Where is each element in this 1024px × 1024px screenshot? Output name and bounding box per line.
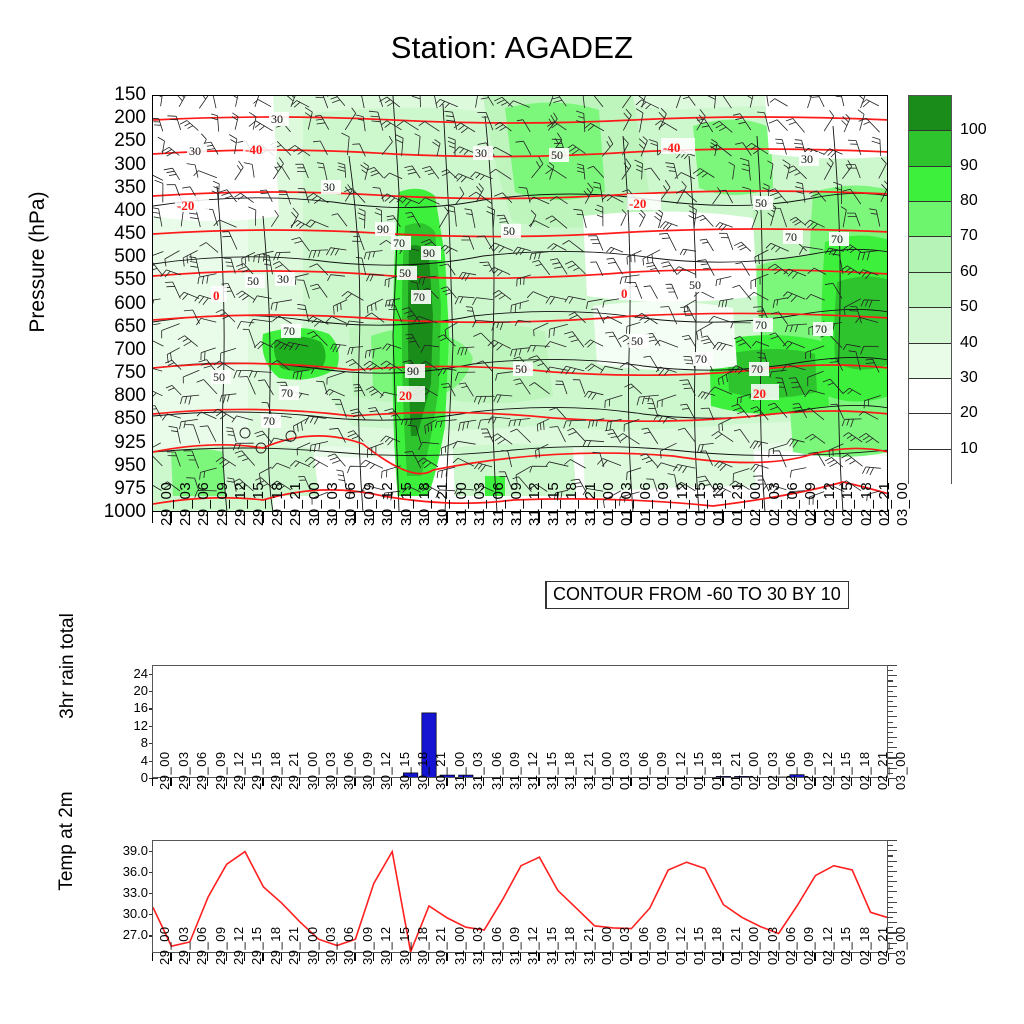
x-tick-label: 01_09	[654, 751, 669, 790]
svg-text:70: 70	[263, 414, 275, 428]
x-tick-label: 29_09	[213, 926, 228, 965]
x-tick-label: 31_15	[544, 926, 559, 965]
x-tick-label: 29_03	[176, 751, 191, 790]
x-tick-mark	[152, 953, 153, 961]
rain-axis-label: 3hr rain total	[57, 586, 79, 746]
x-tick-label: 02_03	[765, 926, 780, 965]
page-title: Station: AGADEZ	[0, 30, 1024, 66]
x-tick-label: 30_15	[398, 482, 415, 526]
x-tick-label: 29_03	[176, 926, 191, 965]
minor-tick	[888, 845, 893, 846]
minor-tick	[888, 732, 893, 733]
svg-text:50: 50	[631, 334, 643, 348]
minor-tick	[888, 696, 897, 697]
x-tick-label: 29_09	[213, 751, 228, 790]
svg-text:70: 70	[785, 230, 797, 244]
svg-text:50: 50	[551, 148, 563, 162]
svg-text:70: 70	[755, 318, 767, 332]
x-tick-label: 02_15	[838, 751, 853, 790]
x-tick-label: 30_06	[342, 482, 359, 526]
x-tick-label: 31_12	[526, 482, 543, 526]
x-tick-label: 30_09	[361, 482, 378, 526]
x-tick-label: 31_09	[507, 926, 522, 965]
x-tick-label: 01_21	[729, 482, 746, 526]
main-y-tick: 650	[100, 317, 146, 336]
svg-text:50: 50	[689, 278, 701, 292]
x-tick-label: 30_00	[305, 751, 320, 790]
minor-tick	[888, 727, 897, 728]
tempPanel-right-minor-ticks	[888, 840, 900, 953]
temp-y-tick: 27.0	[102, 928, 148, 941]
x-tick-label: 29_18	[269, 482, 286, 526]
svg-text:70: 70	[281, 386, 293, 400]
x-tick-label: 31_06	[489, 751, 504, 790]
minor-tick	[888, 778, 897, 779]
x-tick-label: 30_12	[379, 482, 396, 526]
x-tick-label: 30_03	[323, 926, 338, 965]
svg-text:-40: -40	[245, 142, 262, 157]
svg-text:70: 70	[751, 362, 763, 376]
minor-tick	[888, 850, 897, 851]
svg-text:70: 70	[283, 324, 295, 338]
minor-tick	[888, 855, 893, 856]
x-tick-label: 31_12	[525, 751, 540, 790]
x-tick-label: 29_09	[214, 482, 231, 526]
svg-text:90: 90	[407, 364, 419, 378]
minor-tick	[888, 948, 893, 949]
colorbar-tick-label: 10	[960, 440, 978, 458]
x-tick-label: 01_15	[691, 751, 706, 790]
x-tick-label: 29_12	[231, 751, 246, 790]
x-tick-label: 31_15	[545, 482, 562, 526]
x-tick-mark	[152, 778, 153, 786]
x-tick-label: 02_00	[746, 926, 761, 965]
x-tick-label: 29_00	[158, 482, 175, 526]
minor-tick	[888, 917, 893, 918]
x-tick-label: 31_21	[582, 482, 599, 526]
colorbar-tick-label: 40	[960, 334, 978, 352]
x-tick-label: 31_00	[452, 751, 467, 790]
minor-tick	[888, 897, 893, 898]
temp-y-tick: 30.0	[102, 907, 148, 920]
main-plot-svg: -40 -40 -20 -20 0 0 20 20 30 30 30 30 50…	[153, 96, 888, 512]
minor-tick	[888, 886, 893, 887]
main-y-tick: 750	[100, 363, 146, 382]
minor-tick	[888, 670, 893, 671]
svg-text:50: 50	[755, 196, 767, 210]
minor-tick	[888, 722, 893, 723]
svg-text:-20: -20	[629, 196, 646, 211]
x-tick-label: 01_15	[692, 482, 709, 526]
main-y-axis-label: Pressure (hPa)	[26, 132, 50, 392]
x-tick-label: 01_00	[599, 926, 614, 965]
x-tick-label: 02_09	[801, 926, 816, 965]
svg-text:0: 0	[213, 288, 220, 303]
x-tick-label: 31_06	[489, 926, 504, 965]
x-tick-label: 01_03	[617, 926, 632, 965]
x-tick-label: 30_00	[306, 482, 323, 526]
x-tick-label: 29_15	[249, 751, 264, 790]
svg-text:30: 30	[189, 144, 201, 158]
svg-text:70: 70	[393, 236, 405, 250]
main-y-tick: 200	[100, 108, 146, 127]
x-tick-label: 01_12	[673, 926, 688, 965]
x-tick-label: 01_06	[637, 482, 654, 526]
x-tick-label: 30_06	[341, 751, 356, 790]
contour-note: CONTOUR FROM -60 TO 30 BY 10	[545, 581, 849, 609]
minor-tick	[888, 861, 897, 862]
main-y-tick: 850	[100, 409, 146, 428]
x-tick-label: 02_15	[839, 482, 856, 526]
minor-tick	[888, 757, 897, 758]
rainPanel-right-minor-ticks	[888, 665, 900, 778]
x-tick-label: 30_21	[434, 482, 451, 526]
x-tick-label: 29_18	[268, 926, 283, 965]
colorbar-tick-label: 100	[960, 121, 987, 139]
x-tick-label: 30_21	[433, 926, 448, 965]
svg-text:50: 50	[247, 274, 259, 288]
x-tick-label: 02_18	[857, 926, 872, 965]
x-tick-label: 30_15	[397, 751, 412, 790]
x-tick-label: 30_18	[415, 926, 430, 965]
x-tick-label: 31_03	[470, 926, 485, 965]
main-y-tick: 800	[100, 386, 146, 405]
svg-text:90: 90	[423, 246, 435, 260]
rain-y-tick: 16	[108, 701, 148, 714]
svg-text:50: 50	[399, 266, 411, 280]
main-y-tick: 450	[100, 224, 146, 243]
colorbar-tick-label: 30	[960, 369, 978, 387]
x-tick-label: 31_09	[508, 482, 525, 526]
svg-text:70: 70	[413, 290, 425, 304]
x-tick-label: 29_15	[249, 926, 264, 965]
x-tick-label: 01_12	[674, 482, 691, 526]
x-tick-label: 01_03	[617, 751, 632, 790]
main-y-tick: 500	[100, 247, 146, 266]
temp-y-tick: 39.0	[102, 844, 148, 857]
x-tick-label: 30_03	[324, 482, 341, 526]
main-y-tick: 600	[100, 294, 146, 313]
x-tick-label: 01_21	[728, 751, 743, 790]
x-tick-label: 29_06	[194, 751, 209, 790]
svg-text:30: 30	[277, 272, 289, 286]
rain-y-tick: 20	[108, 684, 148, 697]
x-tick-label: 29_21	[286, 926, 301, 965]
minor-tick	[888, 716, 897, 717]
minor-tick	[888, 876, 893, 877]
minor-tick	[888, 922, 897, 923]
x-tick-label: 01_18	[710, 482, 727, 526]
x-tick-label: 31_18	[563, 482, 580, 526]
svg-text:70: 70	[831, 232, 843, 246]
main-x-axis-labels: 29_0029_0329_0629_0929_1229_1529_1829_21…	[152, 524, 888, 586]
minor-tick	[888, 881, 897, 882]
main-y-tick: 300	[100, 155, 146, 174]
temp-y-tick: 33.0	[102, 886, 148, 899]
main-y-tick: 1000	[100, 502, 146, 521]
minor-tick	[888, 675, 897, 676]
x-tick-label: 01_15	[691, 926, 706, 965]
colorbar-tick-label: 20	[960, 404, 978, 422]
x-tick-label: 29_21	[286, 751, 301, 790]
minor-tick	[888, 742, 893, 743]
x-tick-label: 29_21	[287, 482, 304, 526]
x-tick-label: 31_09	[507, 751, 522, 790]
x-tick-label: 31_03	[470, 751, 485, 790]
minor-tick	[888, 706, 897, 707]
minor-tick	[888, 912, 897, 913]
minor-tick	[888, 665, 897, 666]
x-tick-label: 01_00	[599, 751, 614, 790]
sounding-timeheight-plot: -40 -40 -20 -20 0 0 20 20 30 30 30 30 50…	[152, 95, 888, 512]
minor-tick	[888, 737, 897, 738]
x-tick-label: 29_03	[177, 482, 194, 526]
temp-y-tick: 36.0	[102, 865, 148, 878]
svg-text:-40: -40	[663, 140, 680, 155]
minor-tick	[888, 907, 893, 908]
main-y-tick: 250	[100, 131, 146, 150]
x-tick-label: 02_09	[801, 751, 816, 790]
rain-y-tick: 4	[108, 754, 148, 767]
x-tick-label: 31_12	[525, 926, 540, 965]
minor-tick	[888, 701, 893, 702]
x-tick-label: 31_21	[581, 751, 596, 790]
svg-text:30: 30	[323, 180, 335, 194]
minor-tick	[888, 752, 893, 753]
x-tick-label: 29_12	[231, 926, 246, 965]
svg-text:30: 30	[475, 146, 487, 160]
x-tick-label: 01_09	[654, 926, 669, 965]
svg-text:20: 20	[399, 388, 412, 403]
x-tick-label: 31_06	[490, 482, 507, 526]
minor-tick	[888, 943, 897, 944]
svg-text:70: 70	[695, 352, 707, 366]
rain-y-tick-labels: 24201612840	[96, 665, 148, 778]
main-y-tick: 350	[100, 178, 146, 197]
temp-x-axis-labels: 29_0029_0329_0629_0929_1229_1529_1829_21…	[152, 963, 888, 1019]
minor-tick	[888, 866, 893, 867]
main-y-tick: 150	[100, 85, 146, 104]
x-tick-label: 30_06	[341, 926, 356, 965]
temp-axis-label: Temp at 2m	[56, 756, 78, 926]
minor-tick	[888, 773, 893, 774]
x-tick-label: 02_21	[876, 482, 893, 526]
main-y-tick: 400	[100, 201, 146, 220]
x-tick-label: 02_09	[802, 482, 819, 526]
x-tick-label: 01_06	[636, 926, 651, 965]
colorbar-tick-label: 60	[960, 263, 978, 281]
temp-y-tick-labels: 39.036.033.030.027.0	[90, 840, 148, 953]
x-tick-label: 30_09	[360, 926, 375, 965]
x-tick-label: 01_00	[600, 482, 617, 526]
colorbar-tick-label: 70	[960, 227, 978, 245]
rain-y-tick: 8	[108, 736, 148, 749]
x-tick-label: 30_12	[378, 751, 393, 790]
x-tick-label: 31_03	[471, 482, 488, 526]
minor-tick	[888, 927, 893, 928]
x-tick-label: 30_00	[305, 926, 320, 965]
x-tick-label: 30_03	[323, 751, 338, 790]
x-tick-label: 02_06	[783, 926, 798, 965]
x-tick-label: 02_12	[821, 482, 838, 526]
x-tick-label: 31_00	[452, 926, 467, 965]
x-tick-label: 01_06	[636, 751, 651, 790]
x-tick-label: 01_21	[728, 926, 743, 965]
minor-tick	[888, 932, 897, 933]
x-tick-label: 30_18	[416, 482, 433, 526]
svg-text:50: 50	[515, 362, 527, 376]
colorbar-tick-label: 90	[960, 157, 978, 175]
x-tick-label: 01_12	[673, 751, 688, 790]
x-tick-label: 31_18	[562, 751, 577, 790]
rain-y-tick: 24	[108, 667, 148, 680]
main-y-tick: 550	[100, 270, 146, 289]
x-tick-label: 02_00	[747, 482, 764, 526]
x-tick-label: 02_18	[858, 482, 875, 526]
x-tick-label: 30_09	[360, 751, 375, 790]
x-tick-label: 29_06	[194, 926, 209, 965]
x-tick-label: 02_12	[820, 751, 835, 790]
x-tick-label: 02_00	[746, 751, 761, 790]
minor-tick	[888, 953, 897, 954]
x-tick-label: 29_12	[232, 482, 249, 526]
minor-tick	[888, 891, 897, 892]
svg-text:0: 0	[621, 286, 628, 301]
x-tick-label: 01_18	[709, 751, 724, 790]
minor-tick	[888, 686, 897, 687]
colorbar-tick-label: 50	[960, 298, 978, 316]
x-tick-label: 31_15	[544, 751, 559, 790]
main-y-tick: 950	[100, 456, 146, 475]
minor-tick	[888, 711, 893, 712]
rh-colorbar-labels: 100908070605040302010	[908, 95, 1018, 495]
x-tick-label: 02_15	[838, 926, 853, 965]
rain-y-tick: 0	[108, 771, 148, 784]
minor-tick	[888, 763, 893, 764]
x-tick-label: 02_06	[783, 751, 798, 790]
minor-tick	[888, 871, 897, 872]
svg-text:30: 30	[801, 152, 813, 166]
colorbar-tick-label: 80	[960, 192, 978, 210]
main-y-tick: 925	[100, 433, 146, 452]
x-tick-label: 29_15	[250, 482, 267, 526]
main-y-tick: 700	[100, 340, 146, 359]
svg-text:70: 70	[815, 322, 827, 336]
x-tick-label: 29_00	[157, 926, 172, 965]
x-tick-label: 29_06	[195, 482, 212, 526]
svg-text:50: 50	[503, 224, 515, 238]
svg-text:20: 20	[753, 386, 766, 401]
x-tick-label: 02_12	[820, 926, 835, 965]
x-tick-label: 30_18	[415, 751, 430, 790]
x-tick-label: 30_21	[433, 751, 448, 790]
minor-tick	[888, 747, 897, 748]
x-tick-label: 31_21	[581, 926, 596, 965]
x-tick-label: 31_18	[562, 926, 577, 965]
rain-y-tick: 12	[108, 719, 148, 732]
minor-tick	[888, 902, 897, 903]
x-tick-label: 30_12	[378, 926, 393, 965]
x-tick-label: 01_18	[709, 926, 724, 965]
x-tick-mark	[152, 512, 153, 523]
x-tick-label: 29_00	[157, 751, 172, 790]
minor-tick	[888, 768, 897, 769]
minor-tick	[888, 691, 893, 692]
x-tick-label: 02_06	[784, 482, 801, 526]
x-tick-label: 02_03	[765, 751, 780, 790]
x-tick-label: 30_15	[397, 926, 412, 965]
svg-text:-20: -20	[177, 198, 194, 213]
x-tick-label: 02_03	[766, 482, 783, 526]
x-tick-label: 01_03	[618, 482, 635, 526]
main-y-tick: 975	[100, 479, 146, 498]
rain-x-axis-labels: 29_0029_0329_0629_0929_1229_1529_1829_21…	[152, 788, 888, 844]
svg-text:50: 50	[213, 370, 225, 384]
svg-text:90: 90	[377, 222, 389, 236]
svg-text:30: 30	[271, 112, 283, 126]
minor-tick	[888, 840, 897, 841]
minor-tick	[888, 938, 893, 939]
x-tick-label: 29_18	[268, 751, 283, 790]
main-y-tick-labels: 1502002503003504004505005506006507007508…	[84, 95, 146, 512]
x-tick-label: 02_18	[857, 751, 872, 790]
minor-tick	[888, 680, 893, 681]
x-tick-label: 31_00	[453, 482, 470, 526]
x-tick-label: 01_09	[655, 482, 672, 526]
